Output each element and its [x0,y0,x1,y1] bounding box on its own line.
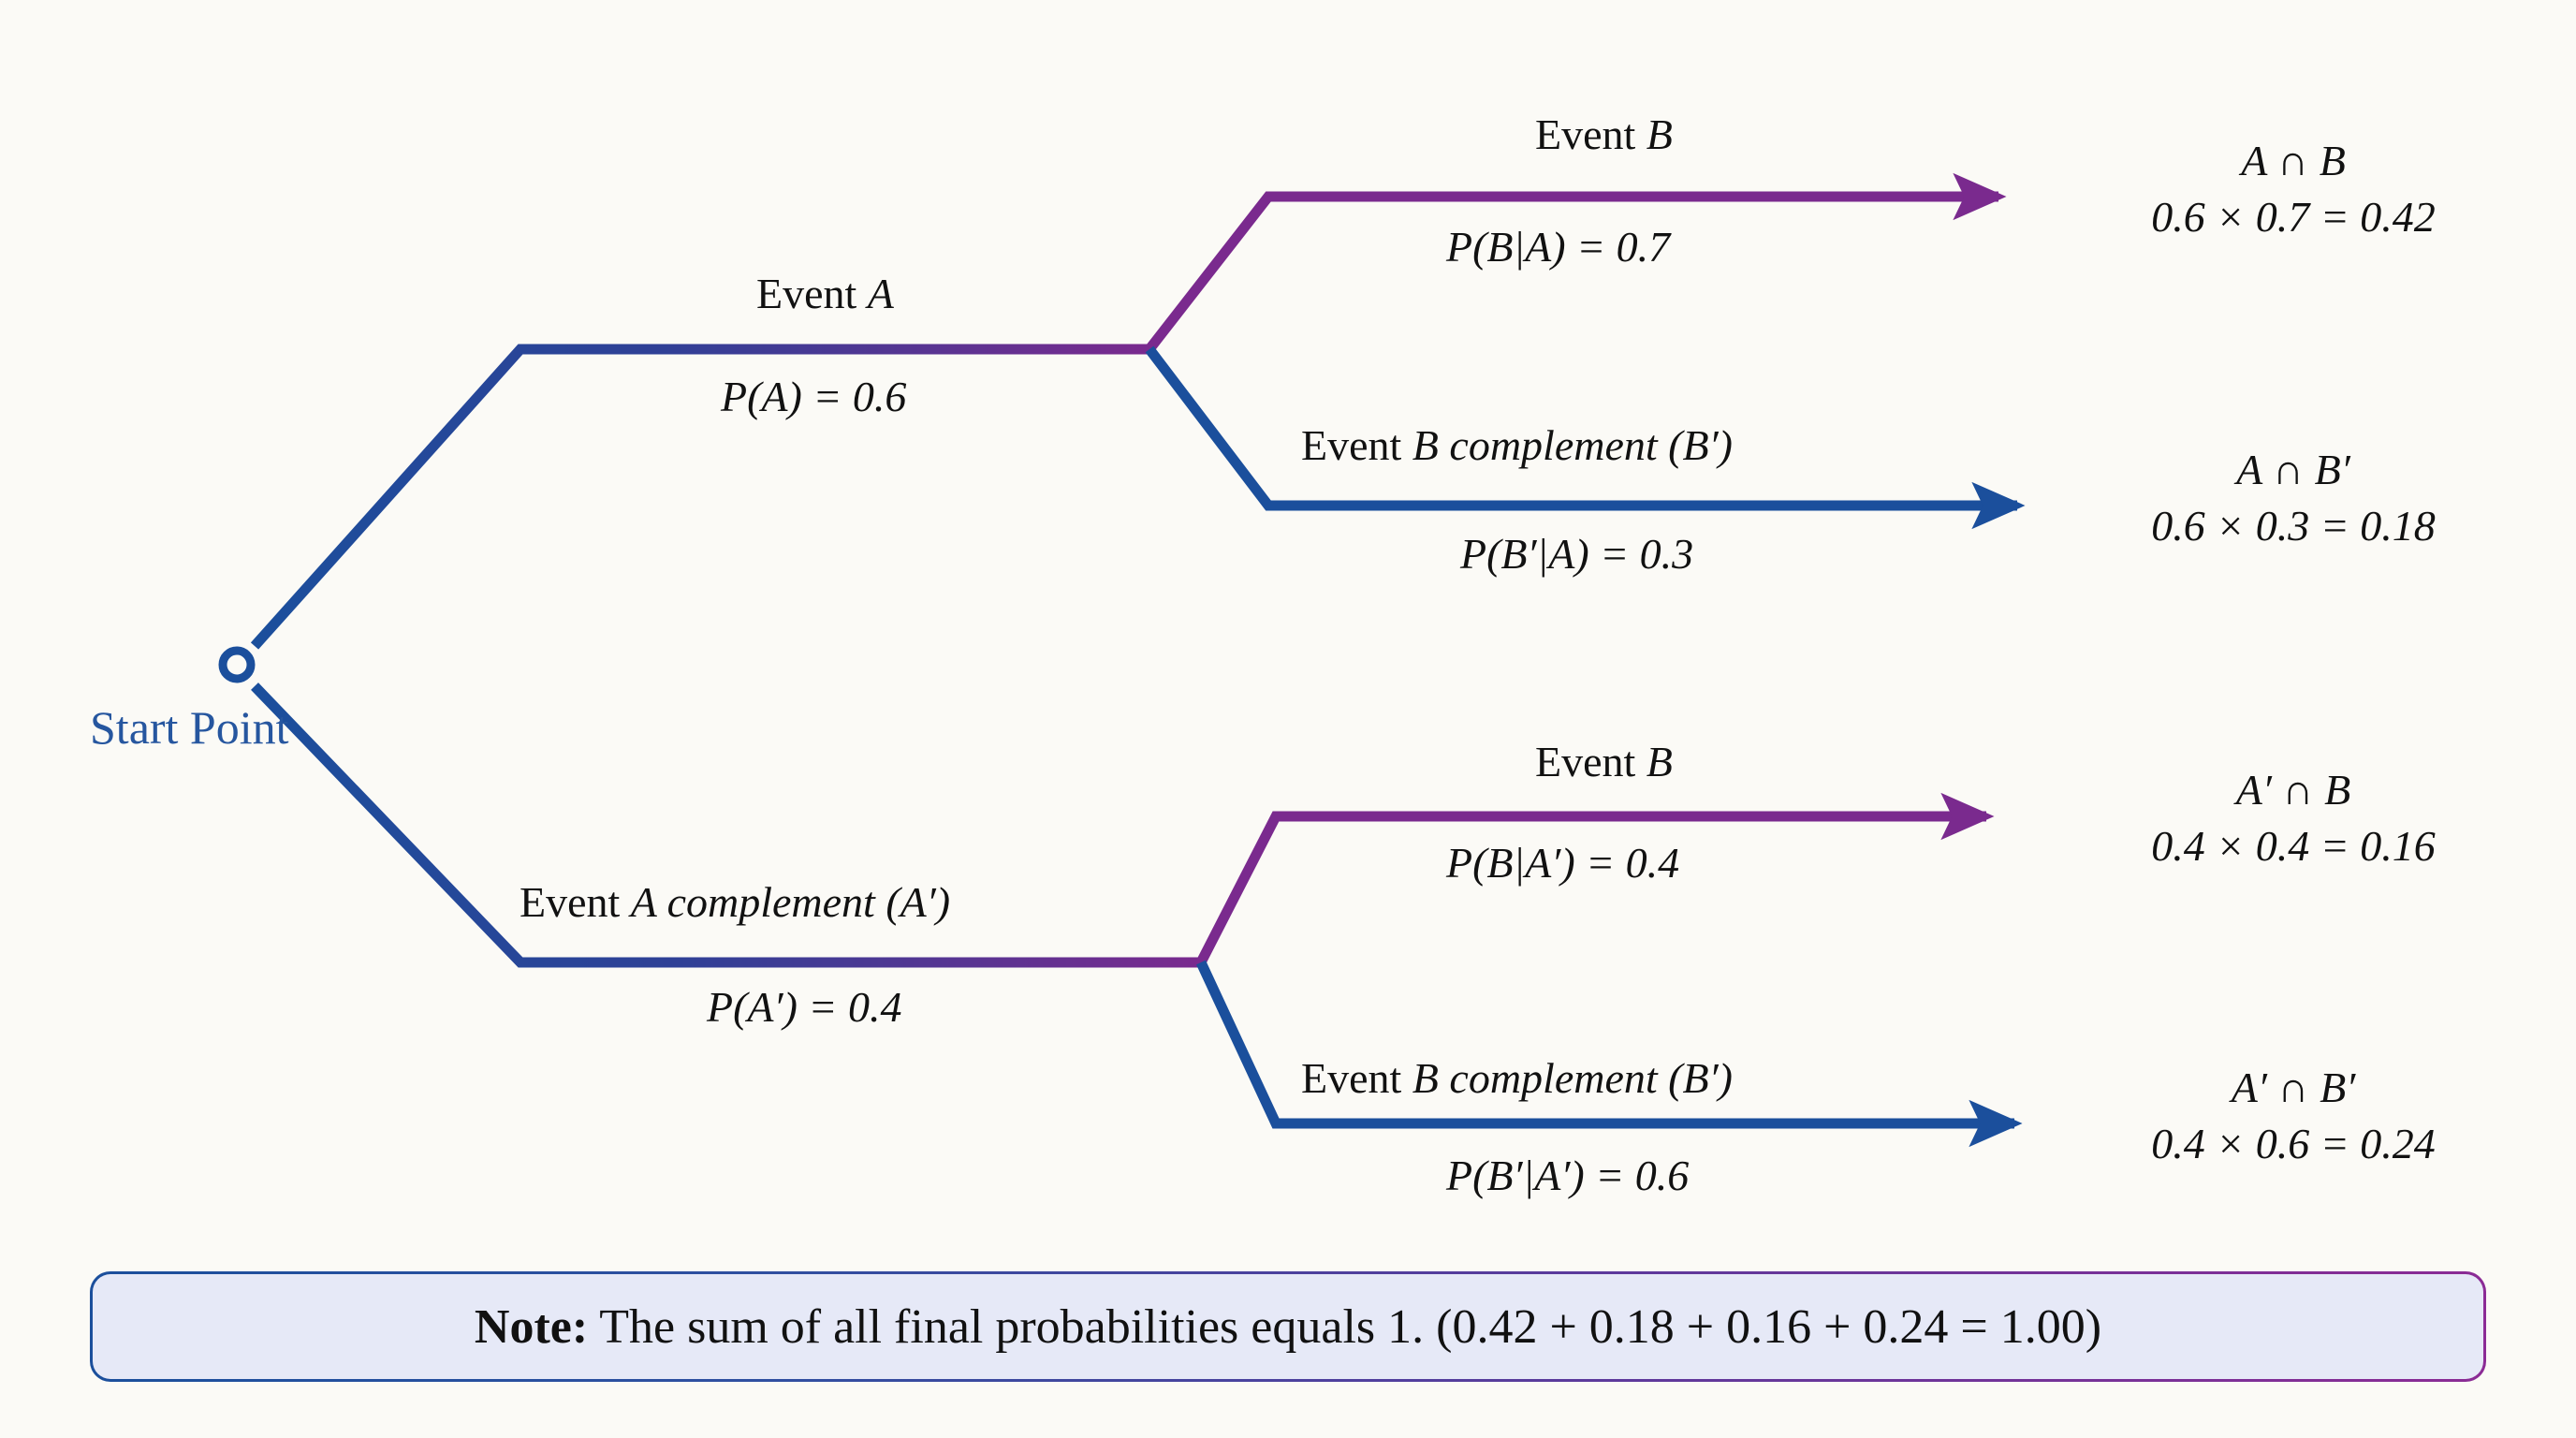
branch-prob-acomplement-to-b-complement: P(B′|A′) = 0.6 [1446,1153,1689,1198]
branch-label-a-to-b: Event B [1535,112,1673,157]
outcome-calc-a-bc: 0.6 × 0.3 = 0.18 [2055,504,2532,549]
branch-abc-symbol: B [1412,421,1439,469]
branch-label-acomplement-to-b: Event B [1535,740,1673,785]
outcome-calc-a-b: 0.6 × 0.7 = 0.42 [2055,195,2532,240]
branch-a-prefix: Event [756,270,868,317]
branch-acbc-prefix: Event [1301,1054,1412,1102]
branch-prob-a-to-b-complement: P(B′|A) = 0.3 [1460,532,1693,577]
branch-label-event-a: Event A [756,271,894,316]
outcome-calc-ac-bc: 0.4 × 0.6 = 0.24 [2055,1122,2532,1167]
outcome-a-intersect-b-complement: A ∩ B′ 0.6 × 0.3 = 0.18 [2055,448,2532,550]
edge-event-a [255,349,1149,646]
branch-prob-event-a-complement: P(A′) = 0.4 [707,985,901,1030]
branch-a-symbol: A [868,270,894,317]
note-box: Note: The sum of all final probabilities… [90,1271,2486,1382]
branch-label-a-to-b-complement: Event B complement (B′) [1301,423,1733,468]
outcome-calc-ac-b: 0.4 × 0.4 = 0.16 [2055,824,2532,869]
outcome-a-intersect-b: A ∩ B 0.6 × 0.7 = 0.42 [2055,139,2532,241]
branch-acbc-symbol: B [1412,1054,1439,1102]
start-point-marker [223,651,251,679]
branch-acomp-prefix: Event [520,878,631,926]
branch-prob-acomplement-to-b: P(B|A′) = 0.4 [1446,841,1679,886]
branch-acbc-suffix: complement (B′) [1439,1054,1733,1102]
branch-abc-prefix: Event [1301,421,1412,469]
outcome-set-ac-bc: A′ ∩ B′ [2055,1065,2532,1110]
outcome-set-a-b: A ∩ B [2055,139,2532,183]
outcome-acomplement-intersect-b: A′ ∩ B 0.4 × 0.4 = 0.16 [2055,768,2532,870]
probability-tree-diagram: Start Point Event A P(A) = 0.6 Event A c… [0,0,2576,1438]
note-text: Note: The sum of all final probabilities… [475,1299,2101,1355]
branch-acb-prefix: Event [1535,738,1647,785]
branch-prob-a-to-b: P(B|A) = 0.7 [1446,225,1670,270]
note-bold-prefix: Note: [475,1300,588,1354]
branch-label-event-a-complement: Event A complement (A′) [520,880,950,925]
branch-abc-suffix: complement (B′) [1439,421,1733,469]
outcome-set-ac-b: A′ ∩ B [2055,768,2532,813]
branch-prob-event-a: P(A) = 0.6 [721,374,906,419]
start-point-label: Start Point [90,700,289,755]
branch-ab-symbol: B [1647,110,1673,158]
branch-ab-prefix: Event [1535,110,1647,158]
branch-acb-symbol: B [1647,738,1673,785]
note-body: The sum of all final probabilities equal… [588,1300,2101,1354]
branch-label-acomplement-to-b-complement: Event B complement (B′) [1301,1056,1733,1101]
outcome-acomplement-intersect-b-complement: A′ ∩ B′ 0.4 × 0.6 = 0.24 [2055,1065,2532,1167]
edge-a-to-b [1149,197,1998,349]
branch-acomp-suffix: complement (A′) [656,878,950,926]
outcome-set-a-bc: A ∩ B′ [2055,448,2532,492]
branch-acomp-symbol: A [631,878,656,926]
note-box-inner: Note: The sum of all final probabilities… [93,1274,2483,1379]
